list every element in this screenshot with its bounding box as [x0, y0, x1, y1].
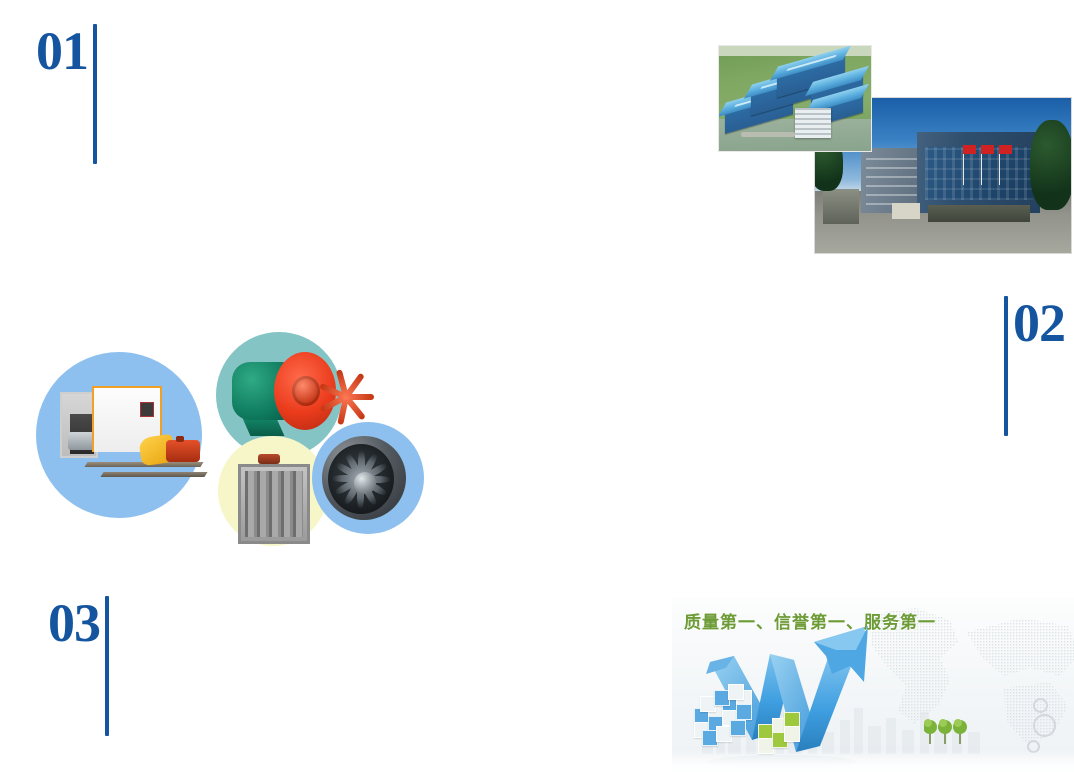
photo-truck [892, 203, 920, 219]
slogan-banner: 质量第一、信誉第一、服务第一 [672, 598, 1074, 772]
product-metal-axial-fan [322, 434, 418, 524]
metal-fan-spinner [354, 472, 376, 494]
product-cabinet-centrifugal-fan [58, 378, 202, 488]
photo-boundary-wall [928, 205, 1030, 222]
section-rule-03 [105, 596, 109, 736]
metal-fan-mouth [328, 444, 394, 514]
section-number-03: 03 [48, 596, 100, 650]
damper-fusible-link [258, 454, 280, 464]
render-office-block [795, 108, 831, 138]
section-number-01: 01 [36, 24, 88, 78]
slogan-text: 质量第一、信誉第一、服务第一 [684, 608, 936, 633]
page-root: 01 02 03 [0, 0, 1074, 772]
decor-circle-small [1033, 698, 1048, 713]
product-fire-damper [232, 454, 312, 542]
factory-aerial-render [718, 45, 872, 152]
photo-flag-1 [963, 145, 976, 154]
photo-flag-3 [999, 145, 1012, 154]
decor-circle-large [1033, 714, 1056, 737]
damper-frame [238, 464, 310, 544]
cabinet-control-panel [140, 402, 154, 417]
photo-main-building [917, 132, 1040, 213]
axial-hub [292, 376, 320, 406]
section-rule-02 [1004, 296, 1008, 436]
section-marker-03: 03 [48, 596, 109, 736]
photo-flag-2 [981, 145, 994, 154]
photo-tree-right [1030, 120, 1072, 210]
trees-icon [924, 710, 970, 746]
section-number-02: 02 [1013, 296, 1065, 350]
section-marker-01: 01 [36, 24, 97, 164]
cabinet-rail-2 [100, 472, 207, 477]
green-cube-icon [758, 710, 800, 750]
section-rule-01 [93, 24, 97, 164]
section-marker-02: 02 [1004, 296, 1065, 436]
cabinet-motor [166, 440, 200, 462]
photo-gatehouse [823, 189, 859, 223]
damper-blades [245, 471, 303, 537]
product-green-red-axial-fan [232, 346, 336, 442]
metal-fan-shell [322, 436, 406, 520]
product-collage [36, 328, 426, 550]
blue-cube-stack-icon [694, 682, 760, 744]
banner-reflection [672, 750, 1074, 772]
render-vehicle-row [741, 132, 795, 137]
